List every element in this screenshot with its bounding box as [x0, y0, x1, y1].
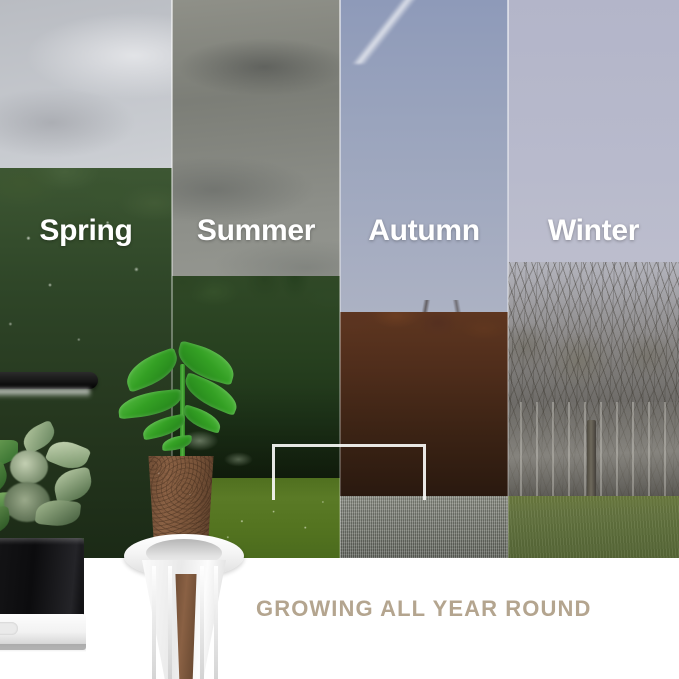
- autumn-treeline: [340, 312, 508, 496]
- pod-basket-rib-mid-left: [168, 566, 172, 679]
- pod-basket-rib-left: [152, 566, 156, 679]
- winter-tree-trunk: [587, 420, 596, 498]
- contrail-streak: [346, 0, 426, 64]
- autumn-frosted-grass: [340, 496, 508, 558]
- season-label-summer: Summer: [172, 216, 340, 246]
- grow-light-arm: [0, 372, 98, 389]
- hydroponic-garden-unit: [0, 372, 98, 652]
- garden-unit-body: [0, 538, 84, 618]
- season-label-autumn: Autumn: [340, 216, 508, 246]
- tagline-text: GROWING ALL YEAR ROUND: [256, 596, 656, 622]
- seasons-banner: Spring Summer Autumn Winter GROWING ALL …: [0, 0, 679, 679]
- season-label-winter: Winter: [508, 216, 679, 246]
- winter-grass-field: [508, 496, 679, 558]
- pepper-seedling: [118, 348, 260, 468]
- garden-unit-control-button[interactable]: [0, 622, 18, 635]
- garden-unit-shadow: [0, 644, 86, 652]
- pod-basket-rib-mid-right: [200, 566, 204, 679]
- pod-basket-rib-right: [214, 566, 218, 679]
- season-panel-winter[interactable]: [508, 0, 679, 558]
- herb-cluster: [0, 396, 98, 544]
- season-panel-autumn[interactable]: [340, 0, 508, 558]
- panel-seam-2: [339, 0, 341, 558]
- season-label-spring: Spring: [0, 216, 172, 246]
- panel-seam-3: [507, 0, 509, 558]
- seed-pod-assembly: [118, 348, 260, 679]
